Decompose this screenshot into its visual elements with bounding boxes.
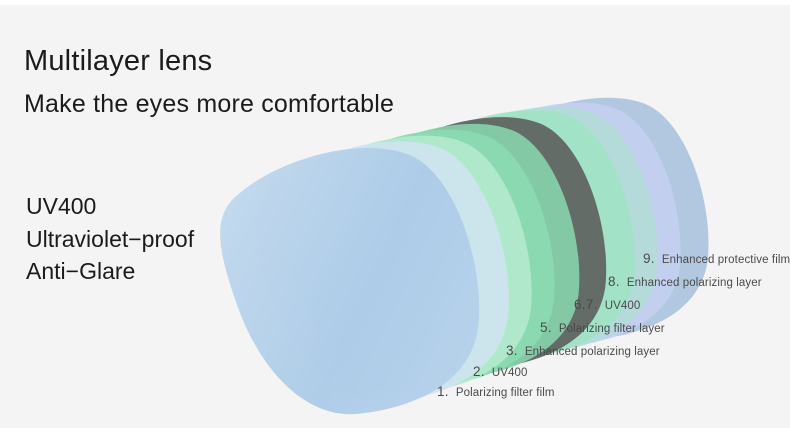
callout-1: 1.Polarizing filter film (437, 383, 555, 401)
callout-1-text: Polarizing filter film (456, 387, 555, 399)
callout-5-text: Polarizing filter layer (559, 323, 665, 335)
callout-1-number: 1. (437, 384, 449, 399)
callout-3: 3.Enhanced polarizing layer (506, 342, 660, 360)
callout-3-number: 3. (506, 343, 518, 358)
callout-8: 8.Enhanced polarizing layer (608, 273, 762, 291)
callout-9-number: 9. (643, 251, 655, 266)
callout-6-7-text: UV400 (605, 300, 641, 312)
callout-8-text: Enhanced polarizing layer (627, 277, 762, 289)
lens-infographic-screen: Multilayer lens Make the eyes more comfo… (0, 0, 790, 438)
callout-9-text: Enhanced protective film (662, 254, 790, 266)
callout-6-7: 6.7.UV400 (574, 296, 640, 314)
callout-2-text: UV400 (492, 367, 528, 379)
callout-9: 9.Enhanced protective film (643, 250, 790, 268)
callout-5: 5.Polarizing filter layer (540, 319, 665, 337)
callout-8-number: 8. (608, 274, 620, 289)
callout-6-7-number: 6.7. (574, 297, 598, 312)
callout-label-group: 9.Enhanced protective film 8.Enhanced po… (0, 5, 790, 428)
callout-2: 2.UV400 (473, 363, 528, 381)
content-panel: Multilayer lens Make the eyes more comfo… (0, 5, 790, 428)
callout-3-text: Enhanced polarizing layer (525, 346, 660, 358)
callout-5-number: 5. (540, 320, 552, 335)
callout-2-number: 2. (473, 364, 485, 379)
